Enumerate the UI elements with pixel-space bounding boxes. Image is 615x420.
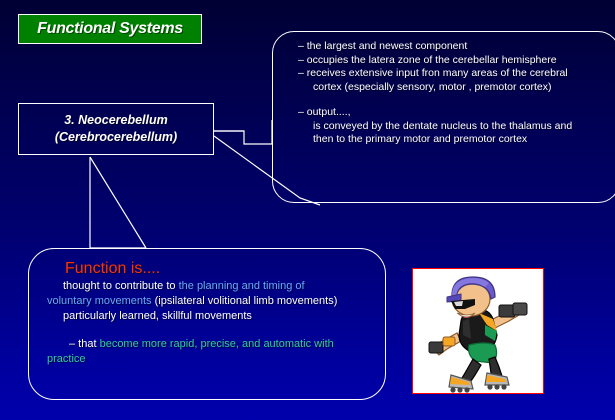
function-line-4-white: – that — [69, 338, 100, 350]
connector-function-pointer — [90, 157, 146, 248]
function-line-gap — [47, 324, 373, 337]
topic-box: 3. Neocerebellum (Cerebrocerebellum) — [18, 103, 214, 155]
detail-line-spacer — [287, 94, 609, 106]
function-line-1: thought to contribute to the planning an… — [47, 279, 373, 294]
detail-line: is conveyed by the dentate nucleus to th… — [287, 120, 609, 134]
connector-topic-to-function — [90, 157, 146, 248]
detail-line: then to the primary motor and premotor c… — [287, 133, 609, 147]
detail-line: – receives extensive input fron many are… — [287, 67, 609, 81]
detail-callout: – the largest and newest component – occ… — [272, 31, 615, 203]
function-line-4-green: become more rapid, precise, and automati… — [100, 338, 334, 350]
detail-line: – occupies the latera zone of the cerebe… — [287, 54, 609, 68]
function-heading: Function is.... — [47, 259, 373, 279]
skater-picture — [412, 268, 544, 394]
function-line-5: practice — [47, 352, 373, 367]
function-line-4: – that become more rapid, precise, and a… — [47, 337, 373, 352]
slide-canvas: Functional Systems 3. Neocerebellum (Cer… — [0, 0, 615, 420]
detail-line: – the largest and newest component — [287, 40, 609, 54]
topic-line-1: 3. Neocerebellum — [64, 112, 168, 129]
skater-illustration — [413, 269, 543, 393]
title-banner: Functional Systems — [18, 14, 202, 44]
detail-line: – output...., — [287, 106, 609, 120]
function-line-2-cyan: voluntary movements — [47, 295, 152, 307]
function-callout: Function is.... thought to contribute to… — [28, 248, 386, 400]
function-line-2-white: (ipsilateral volitional limb movements) — [152, 295, 338, 307]
function-line-1-white: thought to contribute to — [63, 280, 179, 292]
function-line-1-cyan: the planning and timing of — [179, 280, 305, 292]
function-line-3: particularly learned, skillful movements — [47, 309, 373, 324]
function-line-2: voluntary movements (ipsilateral volitio… — [47, 294, 373, 309]
connector-topic-to-detail — [214, 120, 272, 144]
page-title: Functional Systems — [37, 20, 183, 38]
detail-line: cortex (especially sensory, motor , prem… — [287, 81, 609, 95]
function-line-3-white: particularly learned, skillful movements — [63, 310, 252, 322]
function-line-5-green: practice — [47, 353, 86, 365]
topic-line-2: (Cerebrocerebellum) — [55, 129, 177, 146]
